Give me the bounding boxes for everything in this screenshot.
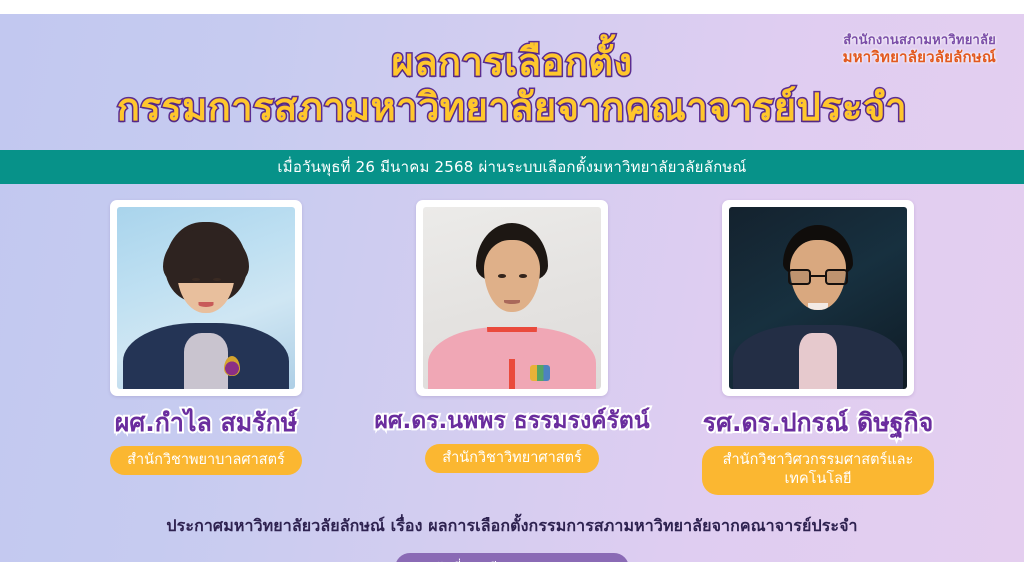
elected-members-row: ผศ.กำไล สมรักษ์ สำนักวิชาพยาบาลศาสตร์ [0,200,1024,495]
member-school-badge-2: สำนักวิชาวิทยาศาสตร์ [425,444,599,473]
subtitle-text: เมื่อวันพุธที่ 26 มีนาคม 2568 ผ่านระบบเล… [277,155,746,179]
member-name-2: ผศ.ดร.นพพร ธรรมรงค์รัตน์ [374,408,649,436]
member-name-3: รศ.ดร.ปกรณ์ ดิษฐกิจ [703,408,934,438]
announcement-text: ประกาศมหาวิทยาลัยวลัยลักษณ์ เรื่อง ผลการ… [0,514,1024,539]
member-school-badge-1: สำนักวิชาพยาบาลศาสตร์ [110,446,302,475]
royal-emblem-pin-icon [224,356,240,376]
portrait-photo-2 [423,207,601,389]
logo-line-university: มหาวิทยาลัยวลัยลักษณ์ [843,49,996,66]
member-school-badge-3: สำนักวิชาวิศวกรรมศาสตร์และเทคโนโลยี [702,446,934,495]
photo-frame-2 [416,200,608,396]
title-line-2: กรรมการสภามหาวิทยาลัยจากคณาจารย์ประจำ [0,85,1024,130]
member-name-1: ผศ.กำไล สมรักษ์ [115,408,298,438]
photo-frame-3 [722,200,914,396]
member-card-2: ผศ.ดร.นพพร ธรรมรงค์รัตน์ สำนักวิชาวิทยาศ… [378,200,646,473]
polo-logo-icon [530,365,550,381]
logo-line-council: สำนักงานสภามหาวิทยาลัย [843,34,996,49]
top-letterbox-strip [0,0,1024,14]
university-council-logo: สำนักงานสภามหาวิทยาลัย มหาวิทยาลัยวลัยลั… [843,34,996,65]
bottom-letterbox-strip [0,562,1024,576]
member-card-1: ผศ.กำไล สมรักษ์ สำนักวิชาพยาบาลศาสตร์ [72,200,340,475]
poster-canvas: สำนักงานสภามหาวิทยาลัย มหาวิทยาลัยวลัยลั… [0,14,1024,562]
subtitle-band: เมื่อวันพุธที่ 26 มีนาคม 2568 ผ่านระบบเล… [0,150,1024,184]
portrait-photo-3 [729,207,907,389]
member-card-3: รศ.ดร.ปกรณ์ ดิษฐกิจ สำนักวิชาวิศวกรรมศาส… [684,200,952,495]
photo-frame-1 [110,200,302,396]
election-result-poster: สำนักงานสภามหาวิทยาลัย มหาวิทยาลัยวลัยลั… [0,0,1024,576]
portrait-photo-1 [117,207,295,389]
eyeglasses-icon [788,269,848,285]
